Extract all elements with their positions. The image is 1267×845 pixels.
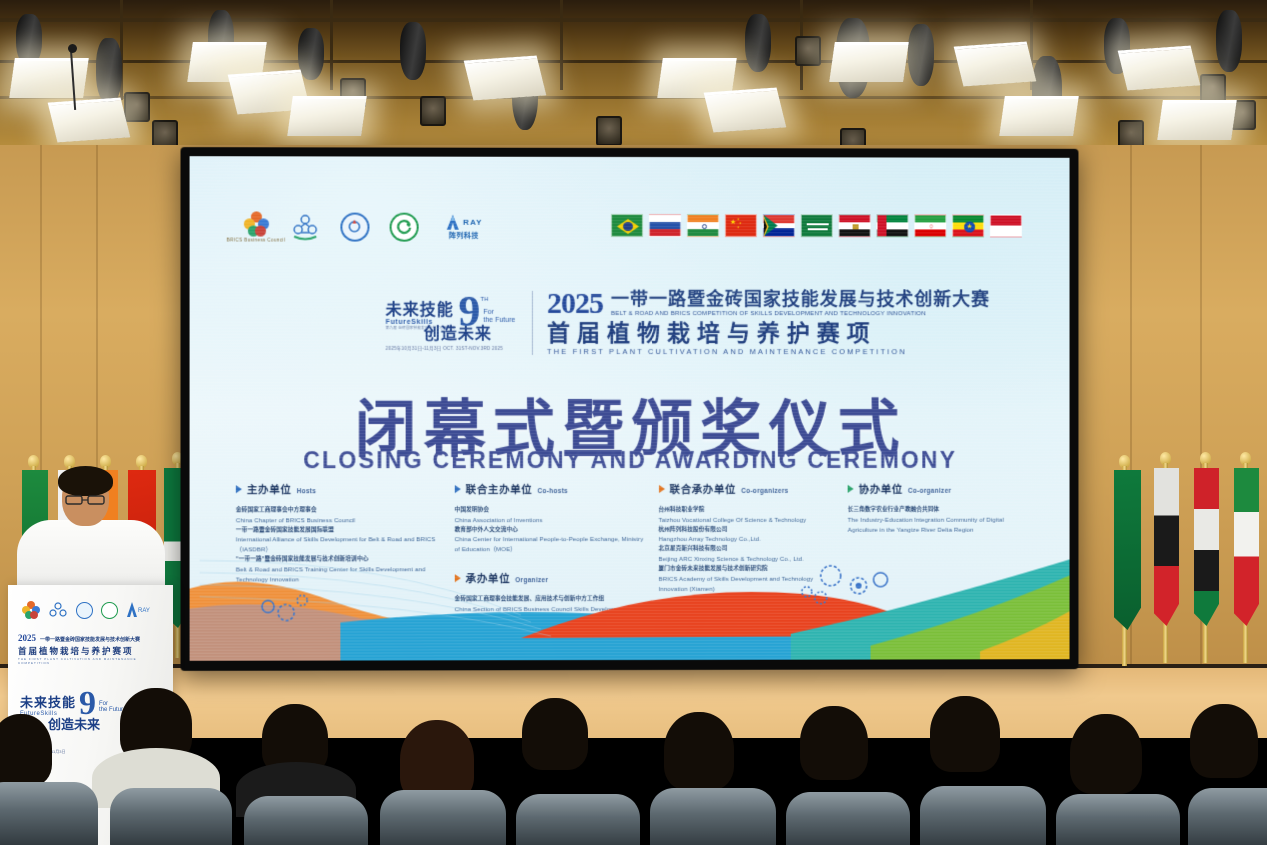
auditorium-seat — [380, 790, 506, 845]
event-lockup: 未来技能 FutureSkills 第九届 金砖国家技能发展与技术创新大赛 9 … — [386, 290, 990, 357]
org-name-cn: 中国发明协会 — [455, 506, 647, 516]
flag-iran — [1234, 468, 1259, 626]
podium-event-cn: 首届植物栽培与养护赛项 — [18, 645, 165, 657]
section-title-cn: 协办单位 — [859, 482, 903, 497]
futureskills-logo: 未来技能 FutureSkills 第九届 金砖国家技能发展与技术创新大赛 9 … — [386, 295, 518, 352]
podium-title-block: 2025 一带一路暨金砖国家技能发展与技术创新大赛 首届植物栽培与养护赛项 TH… — [18, 633, 165, 665]
fresnel-lamp-icon — [596, 116, 622, 146]
softbox-light-icon — [1118, 45, 1201, 90]
skills-alliance-logo — [48, 601, 68, 619]
softbox-light-icon — [954, 41, 1037, 86]
china-association-inventions-logo — [336, 209, 372, 245]
brics-business-council-logo — [22, 601, 40, 619]
audience-head — [1190, 704, 1258, 778]
brics-business-council-logo: BRICS Business Council — [238, 208, 274, 244]
event-year: 2025 — [547, 290, 603, 317]
podium-competition-cn: 一带一路暨金砖国家技能发展与技术创新大赛 — [40, 636, 140, 643]
audience-head — [1070, 714, 1142, 794]
flag-egypt — [1154, 468, 1179, 626]
flag-india — [687, 214, 719, 237]
fresnel-lamp-icon — [124, 92, 150, 122]
softbox-light-icon — [999, 96, 1079, 136]
audience-head — [0, 714, 52, 786]
softbox-light-icon — [464, 55, 547, 100]
flag-indonesia — [990, 215, 1022, 238]
fresnel-lamp-icon — [420, 96, 446, 126]
section-title-en: Co-hosts — [537, 488, 568, 495]
spotlight-icon — [745, 14, 771, 72]
spotlight-icon — [298, 28, 324, 80]
flag-china: ★ ★ ★ ★ — [725, 214, 757, 237]
spotlight-icon — [908, 24, 934, 86]
audience-head — [664, 712, 734, 790]
softbox-light-icon — [829, 42, 909, 82]
audience-rows — [0, 670, 1267, 845]
green-leaf-organization-logo — [386, 209, 422, 245]
flag-iran: ۞ — [914, 214, 946, 237]
competition-name-en: BELT & ROAD AND BRICS COMPETITION OF SKI… — [611, 310, 990, 317]
lockup-divider — [532, 291, 533, 355]
fresnel-lamp-icon — [795, 36, 821, 66]
podium-logo-row: RAY — [22, 601, 150, 619]
flag-saudi-arabia — [1114, 470, 1141, 630]
speaker-person — [14, 470, 169, 595]
audience-head — [930, 696, 1000, 772]
partner-logo-row: BRICS Business Council — [238, 208, 493, 244]
spotlight-icon — [96, 38, 122, 104]
event-date-line: 2025年10月31日-11月3日 OCT. 31ST-NOV.3RD 2025 — [386, 346, 518, 352]
softbox-light-icon — [287, 96, 367, 136]
section-marker-icon — [236, 485, 242, 493]
softbox-light-icon — [48, 97, 131, 142]
auditorium-seat — [1056, 794, 1180, 845]
audience-head — [800, 706, 868, 780]
section-title-en: Co-organizers — [741, 488, 789, 495]
softbox-light-icon — [1157, 100, 1237, 140]
auditorium-seat — [244, 796, 368, 845]
china-association-inventions-logo — [76, 602, 93, 619]
event-name-cn: 首届植物栽培与养护赛项 — [547, 320, 990, 347]
flag-russia — [649, 214, 681, 237]
auditorium-seat — [920, 786, 1046, 845]
podium-event-en: THE FIRST PLANT CULTIVATION AND MAINTENA… — [18, 657, 165, 665]
section-title-en: Co-organizer — [908, 488, 951, 495]
spotlight-icon — [400, 22, 426, 80]
section-marker-icon — [848, 485, 854, 493]
org-name-en: China Chapter of BRICS Business Council — [236, 516, 443, 526]
section-title-cn: 主办单位 — [247, 482, 292, 497]
stage-scene: BRICS Business Council — [0, 0, 1267, 845]
futureskills-cn: 未来技能 — [386, 303, 456, 319]
auditorium-seat — [1188, 788, 1267, 845]
flag-uae — [877, 214, 909, 237]
auditorium-seat — [516, 794, 640, 845]
event-name-en: THE FIRST PLANT CULTIVATION AND MAINTENA… — [547, 347, 990, 356]
section-marker-icon — [455, 485, 461, 493]
org-name-cn: 金砖国家工商理事会中方理事会 — [236, 506, 443, 516]
auditorium-seat — [650, 788, 776, 845]
org-name-cn: 长三角数字农业行业产教融合共同体 — [848, 506, 1034, 516]
competition-name-cn: 一带一路暨金砖国家技能发展与技术创新大赛 — [611, 290, 990, 308]
logo-caption: BRICS Business Council — [227, 237, 286, 242]
flag-strip: ★ ★ ★ ★ — [611, 214, 1022, 238]
array-technology-logo: RAY — [126, 601, 150, 619]
softbox-light-icon — [9, 58, 89, 98]
ceiling-light-rig — [0, 0, 1267, 150]
section-marker-icon — [659, 485, 665, 493]
svg-text:RAY: RAY — [138, 608, 150, 614]
flag-egypt — [839, 214, 871, 237]
podium-year: 2025 — [18, 633, 36, 643]
org-name-cn: 台州科技职业学院 — [659, 506, 836, 516]
section-title-en: Hosts — [297, 488, 317, 495]
auditorium-seat — [110, 788, 232, 845]
audience-head — [522, 698, 588, 770]
ninth-edition-suffix: TH — [480, 297, 488, 303]
skills-alliance-logo — [287, 208, 323, 244]
flag-uae — [1194, 468, 1219, 626]
headline-en: CLOSING CEREMONY AND AWARDING CEREMONY — [190, 447, 1070, 474]
flag-brazil — [611, 214, 643, 237]
decorative-wave-graphic — [190, 530, 1070, 661]
softbox-light-icon — [704, 87, 787, 132]
org-name-en: China Association of Inventions — [455, 516, 647, 526]
flag-ethiopia: ★ — [952, 214, 984, 237]
section-title-cn: 联合主办单位 — [466, 482, 533, 497]
competition-title-block: 2025 一带一路暨金砖国家技能发展与技术创新大赛 BELT & ROAD AN… — [547, 290, 990, 357]
ninth-edition-numeral: 9 — [458, 287, 480, 336]
auditorium-seat — [786, 792, 910, 845]
spotlight-icon — [1216, 10, 1242, 72]
array-en-label: RAY — [463, 217, 483, 226]
auditorium-seat — [0, 782, 98, 845]
flag-saudi-arabia — [801, 214, 833, 237]
flag-south-africa — [763, 214, 795, 237]
section-title-cn: 联合承办单位 — [670, 482, 737, 497]
green-leaf-organization-logo — [101, 602, 118, 619]
array-cn-label: 阵列科技 — [449, 230, 479, 240]
array-technology-logo: RAY 阵列科技 — [435, 209, 493, 245]
led-screen: BRICS Business Council — [181, 147, 1079, 671]
glasses-icon — [65, 492, 106, 502]
org-name-en: Taizhou Vocational College Of Science & … — [659, 516, 836, 526]
for-label: For — [483, 309, 515, 317]
microphone-icon — [68, 44, 77, 53]
the-future-label: the Future — [483, 317, 515, 325]
futureskills-en: FutureSkills — [386, 319, 456, 326]
